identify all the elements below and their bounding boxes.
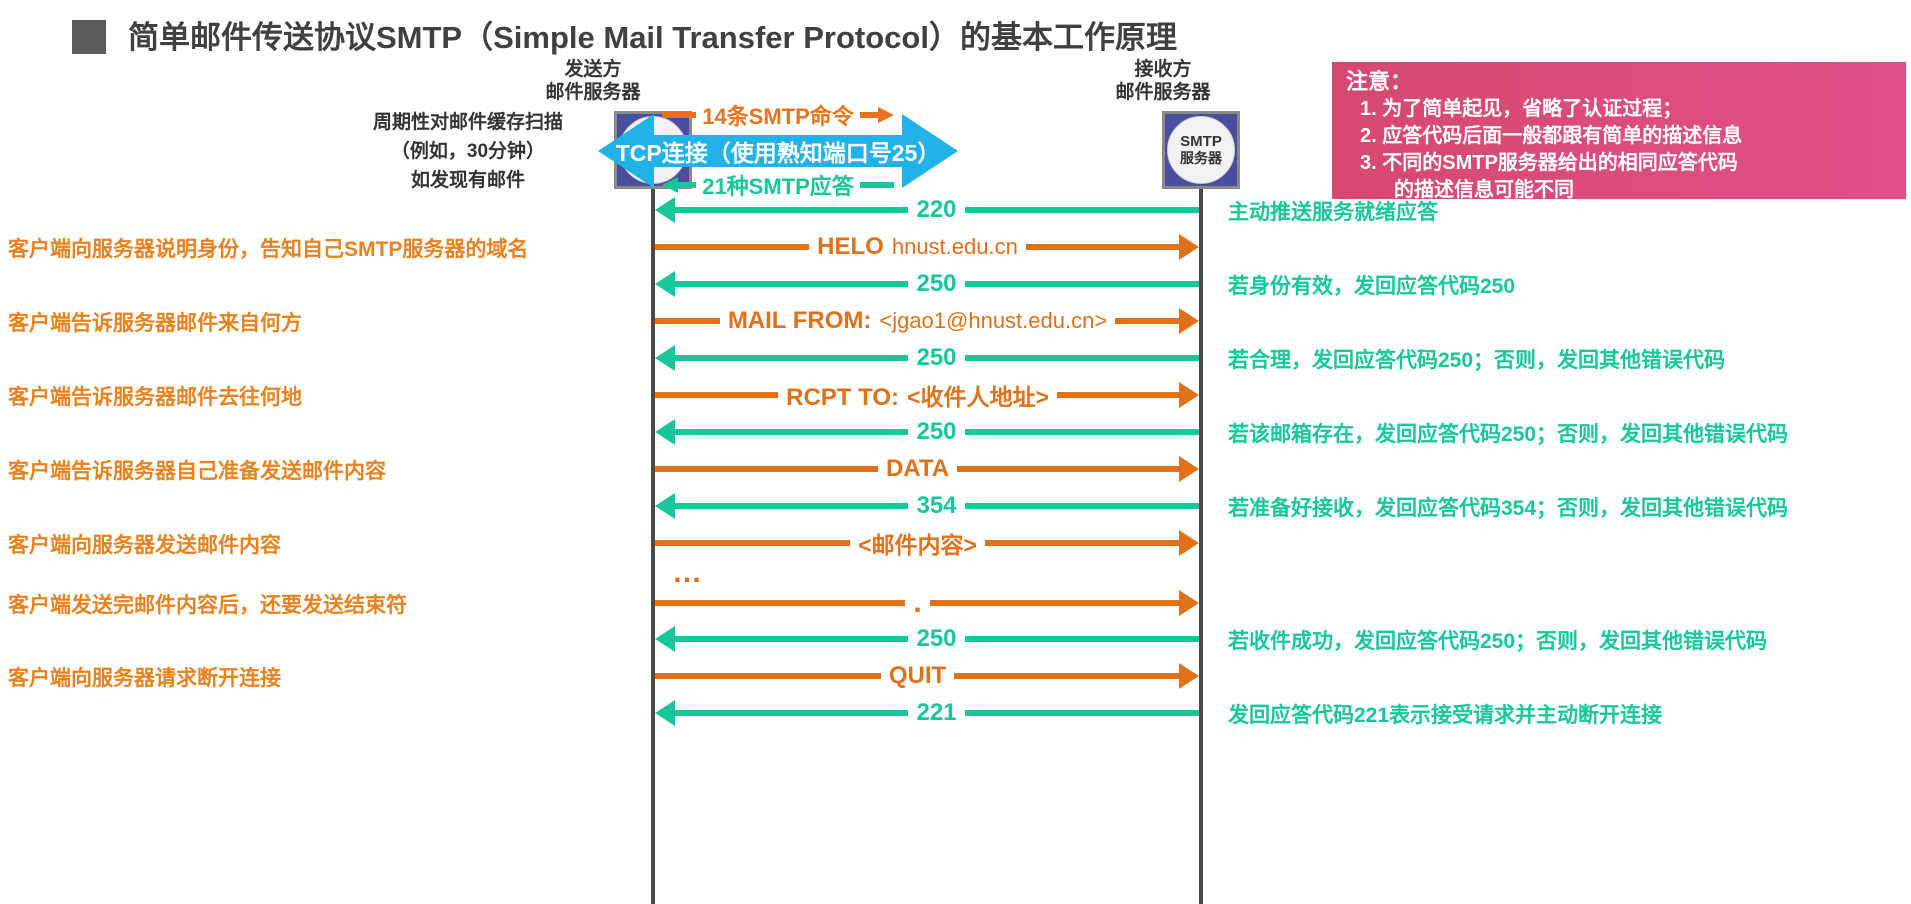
message-label: HELOhnust.edu.cn — [809, 233, 1026, 261]
message-label: 250 — [908, 270, 964, 298]
message-line-right — [965, 355, 1199, 361]
smtp-commands-label: 14条SMTP命令 — [598, 100, 958, 130]
message-row: 250 — [655, 624, 1199, 654]
message-row: 354 — [655, 491, 1199, 521]
arrow-left-icon — [655, 419, 675, 445]
page-title: 简单邮件传送协议SMTP（Simple Mail Transfer Protoc… — [128, 12, 1177, 57]
message-line-left — [655, 392, 778, 398]
message-line-right — [965, 503, 1199, 509]
message-line-left — [674, 710, 908, 716]
message-line-right — [965, 281, 1199, 287]
message-label: DATA — [878, 455, 957, 483]
message-label: 250 — [908, 625, 964, 653]
message-line-left — [674, 355, 908, 361]
arrow-left-icon — [655, 197, 675, 223]
message-line-right — [1026, 244, 1180, 250]
server-label-line2: 邮件服务器 — [1108, 81, 1218, 104]
message-label: QUIT — [881, 662, 954, 690]
title-bullet-square — [72, 20, 106, 54]
server-side-description: 主动推送服务就绪应答 — [1228, 196, 1438, 226]
message-row: DATA — [655, 454, 1199, 484]
message-line-right — [965, 207, 1199, 213]
note-item-1: 1. 为了简单起见，省略了认证过程； — [1346, 96, 1896, 123]
message-line-left — [655, 673, 881, 679]
message-label: 220 — [908, 196, 964, 224]
message-line-right — [965, 710, 1199, 716]
arrow-right-icon — [1179, 456, 1199, 482]
message-line-left — [674, 207, 908, 213]
arrow-right-icon — [1179, 663, 1199, 689]
server-side-description: 若收件成功，发回应答代码250；否则，发回其他错误代码 — [1228, 625, 1767, 655]
smtp-server-circle: SMTP 服务器 — [1167, 116, 1235, 184]
message-command: 250 — [916, 270, 956, 298]
message-line-right — [985, 540, 1180, 546]
arrow-left-icon — [655, 271, 675, 297]
message-row: RCPT TO:<收件人地址> — [655, 380, 1199, 410]
note-box: 注意： 1. 为了简单起见，省略了认证过程； 2. 应答代码后面一般都跟有简单的… — [1332, 62, 1906, 199]
server-side-description: 若身份有效，发回应答代码250 — [1228, 270, 1515, 300]
message-line-left — [655, 244, 809, 250]
message-line-left — [655, 600, 905, 606]
arrow-left-icon — [655, 345, 675, 371]
reply-line-right — [860, 182, 894, 188]
arrow-right-icon — [1179, 308, 1199, 334]
client-label: 发送方 邮件服务器 — [538, 58, 648, 104]
scan-note-line3: 如发现有邮件 — [338, 166, 598, 195]
message-line-right — [1057, 392, 1180, 398]
message-label: MAIL FROM:<jgao1@hnust.edu.cn> — [720, 307, 1115, 335]
message-line-right — [930, 600, 1180, 606]
message-command: 250 — [916, 625, 956, 653]
message-argument: <jgao1@hnust.edu.cn> — [879, 308, 1107, 334]
message-label: 250 — [908, 344, 964, 372]
smtp-server-box-line1: SMTP — [1180, 133, 1222, 150]
message-line-left — [655, 318, 720, 324]
message-label: <邮件内容> — [850, 526, 985, 560]
server-side-description: 若合理，发回应答代码250；否则，发回其他错误代码 — [1228, 344, 1725, 374]
message-command: <邮件内容> — [858, 526, 977, 560]
command-arrow-right-icon — [860, 107, 894, 123]
message-line-left — [674, 636, 908, 642]
client-side-description: 客户端告诉服务器邮件去往何地 — [8, 381, 302, 411]
server-lifeline — [1199, 189, 1203, 904]
server-label-line1: 接收方 — [1108, 58, 1218, 81]
arrow-left-icon — [655, 493, 675, 519]
message-argument: hnust.edu.cn — [892, 234, 1018, 260]
message-row: QUIT — [655, 661, 1199, 691]
client-side-description: 客户端发送完邮件内容后，还要发送结束符 — [8, 589, 407, 619]
client-side-description: 客户端向服务器请求断开连接 — [8, 662, 281, 692]
client-side-description: 客户端向服务器说明身份，告知自己SMTP服务器的域名 — [8, 233, 528, 263]
message-line-left — [674, 503, 908, 509]
arrow-right-icon — [1179, 234, 1199, 260]
message-command: 220 — [916, 196, 956, 224]
message-label: 354 — [908, 492, 964, 520]
tcp-connection-label: TCP连接（使用熟知端口号25） — [598, 133, 958, 169]
message-line-right — [965, 429, 1199, 435]
message-line-left — [655, 466, 878, 472]
client-side-description: 客户端告诉服务器自己准备发送邮件内容 — [8, 455, 386, 485]
message-row: 250 — [655, 269, 1199, 299]
message-label: RCPT TO:<收件人地址> — [778, 378, 1057, 412]
smtp-server-box: SMTP 服务器 — [1162, 111, 1240, 189]
message-command: DATA — [886, 455, 949, 483]
message-line-left — [674, 281, 908, 287]
message-command: MAIL FROM: — [728, 307, 872, 335]
message-command: 354 — [916, 492, 956, 520]
arrow-right-icon — [1179, 530, 1199, 556]
message-line-right — [954, 673, 1180, 679]
message-label: 221 — [908, 699, 964, 727]
message-row: HELOhnust.edu.cn — [655, 232, 1199, 262]
arrow-right-icon — [1179, 590, 1199, 616]
server-side-description: 若该邮箱存在，发回应答代码250；否则，发回其他错误代码 — [1228, 418, 1788, 448]
smtp-server-box-line2: 服务器 — [1180, 150, 1222, 167]
server-side-description: 发回应答代码221表示接受请求并主动断开连接 — [1228, 699, 1662, 729]
message-command: HELO — [817, 233, 884, 261]
message-label: 250 — [908, 418, 964, 446]
client-side-description: 客户端告诉服务器邮件来自何方 — [8, 307, 302, 337]
scan-note-line2: （例如，30分钟） — [338, 137, 598, 166]
message-row: <邮件内容> — [655, 528, 1199, 558]
arrow-left-icon — [655, 626, 675, 652]
message-row: 250 — [655, 343, 1199, 373]
message-line-right — [957, 466, 1180, 472]
message-argument: <收件人地址> — [907, 378, 1049, 412]
message-row: 221 — [655, 698, 1199, 728]
note-item-3: 3. 不同的SMTP服务器给出的相同应答代码 — [1346, 150, 1896, 177]
message-command: 250 — [916, 344, 956, 372]
message-command: QUIT — [889, 662, 946, 690]
note-item-2: 2. 应答代码后面一般都跟有简单的描述信息 — [1346, 123, 1896, 150]
message-line-right — [1115, 318, 1180, 324]
message-row: 250 — [655, 417, 1199, 447]
message-line-left — [655, 540, 850, 546]
server-side-description: 若准备好接收，发回应答代码354；否则，发回其他错误代码 — [1228, 492, 1788, 522]
arrow-right-icon — [1179, 382, 1199, 408]
message-command: . — [913, 586, 921, 620]
message-command: 250 — [916, 418, 956, 446]
client-label-line1: 发送方 — [538, 58, 648, 81]
message-command: RCPT TO: — [786, 384, 899, 412]
client-side-description: 客户端向服务器发送邮件内容 — [8, 529, 281, 559]
message-label: . — [905, 586, 929, 620]
command-label-text: 14条SMTP命令 — [702, 99, 854, 131]
scan-note: 周期性对邮件缓存扫描 （例如，30分钟） 如发现有邮件 — [338, 108, 598, 195]
note-heading: 注意： — [1346, 68, 1896, 96]
message-ellipsis: … — [672, 568, 704, 578]
reply-arrow-left-icon — [662, 177, 696, 193]
message-line-left — [674, 429, 908, 435]
message-row: MAIL FROM:<jgao1@hnust.edu.cn> — [655, 306, 1199, 336]
arrow-left-icon — [655, 700, 675, 726]
scan-note-line1: 周期性对邮件缓存扫描 — [338, 108, 598, 137]
message-row: . — [655, 588, 1199, 618]
message-line-right — [965, 636, 1199, 642]
message-row: 220 — [655, 195, 1199, 225]
server-label: 接收方 邮件服务器 — [1108, 58, 1218, 104]
message-command: 221 — [916, 699, 956, 727]
command-line-left — [662, 112, 696, 118]
